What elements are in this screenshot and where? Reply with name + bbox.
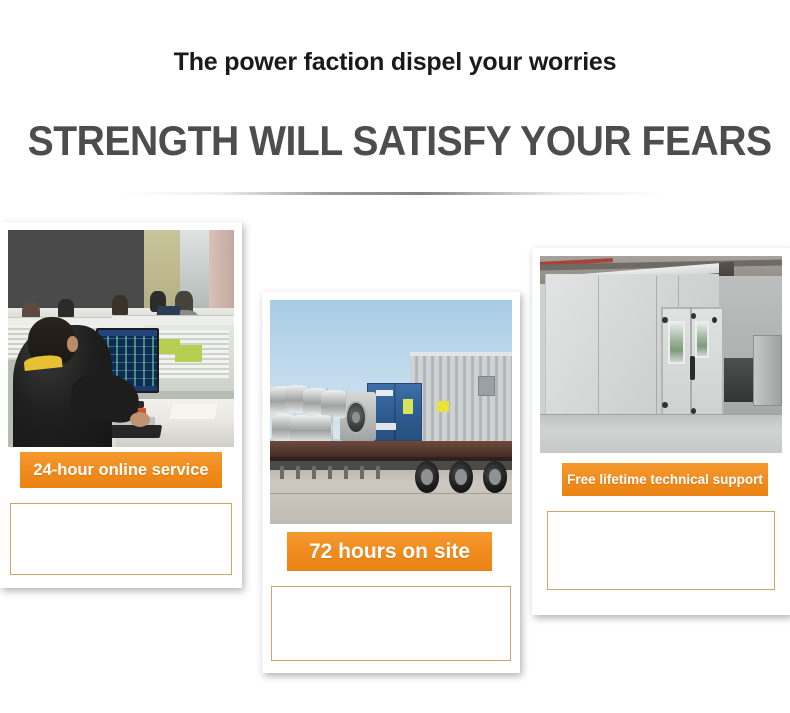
banner-title: STRENGTH WILL SATISFY YOUR FEARS	[28, 117, 763, 165]
note-block-2	[271, 586, 511, 661]
badge-free-lifetime-technical-support[interactable]: Free lifetime technical support	[562, 463, 768, 496]
truck-shipment-photo	[270, 300, 512, 524]
badge-24-hour-online-service[interactable]: 24-hour online service	[20, 452, 222, 488]
clean-room-booth-photo	[540, 256, 782, 453]
banner-subtitle: The power faction dispel your worries	[0, 48, 790, 77]
header-divider	[120, 192, 670, 195]
badge-72-hours-on-site[interactable]: 72 hours on site	[287, 532, 492, 571]
note-block-3	[547, 511, 775, 590]
note-block-1	[10, 503, 232, 575]
promo-banner: The power faction dispel your worries ST…	[0, 0, 790, 713]
office-control-room-photo	[8, 230, 234, 447]
